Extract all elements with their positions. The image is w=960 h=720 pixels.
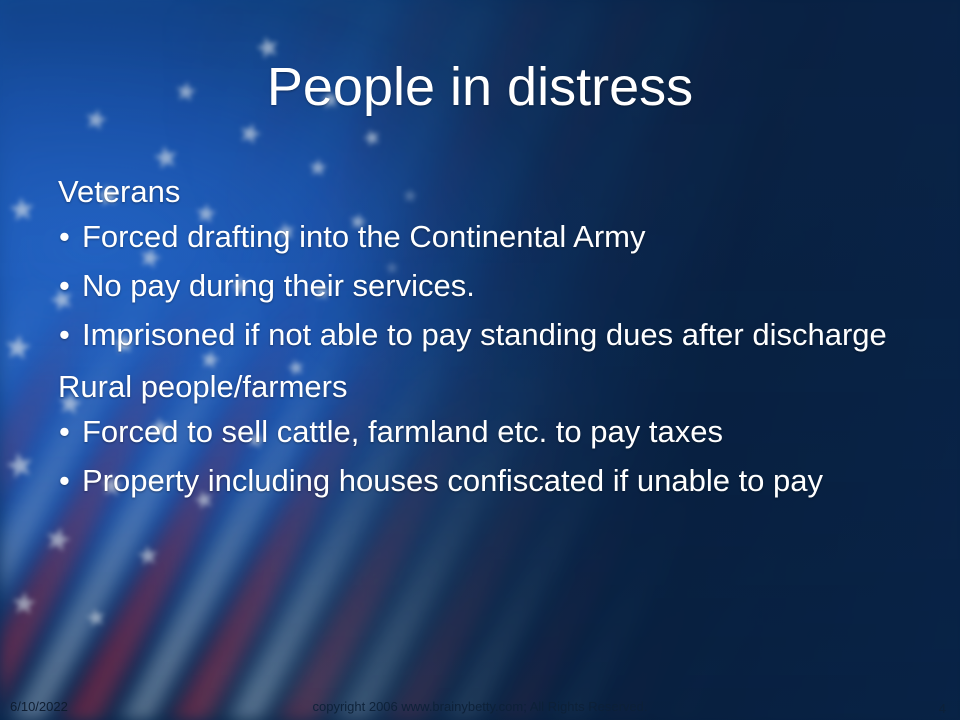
bullet-item: • No pay during their services. (48, 263, 928, 309)
bullet-text: Forced to sell cattle, farmland etc. to … (82, 409, 928, 455)
bullet-text: Property including houses confiscated if… (82, 458, 928, 504)
section-heading: Rural people/farmers (58, 367, 928, 407)
slide-number: 4 (939, 701, 946, 716)
bullet-point-icon: • (48, 409, 82, 455)
bullet-point-icon: • (48, 263, 82, 309)
bullet-item: • Forced drafting into the Continental A… (48, 214, 928, 260)
bullet-point-icon: • (48, 214, 82, 260)
content-section-rural-people-farmers: Rural people/farmers • Forced to sell ca… (48, 367, 928, 504)
presentation-slide: People in distress Veterans • Forced dra… (0, 0, 960, 720)
bullet-text: Imprisoned if not able to pay standing d… (82, 312, 928, 358)
slide-footer: 6/10/2022 copyright 2006 www.brainybetty… (0, 690, 960, 720)
content-section-veterans: Veterans • Forced drafting into the Cont… (48, 172, 928, 358)
bullet-text: Forced drafting into the Continental Arm… (82, 214, 928, 260)
section-heading: Veterans (58, 172, 928, 212)
bullet-item: • Forced to sell cattle, farmland etc. t… (48, 409, 928, 455)
slide-body: Veterans • Forced drafting into the Cont… (48, 172, 928, 507)
bullet-item: • Imprisoned if not able to pay standing… (48, 312, 928, 358)
bullet-text: No pay during their services. (82, 263, 928, 309)
bullet-item: • Property including houses confiscated … (48, 458, 928, 504)
bullet-point-icon: • (48, 458, 82, 504)
slide-title: People in distress (0, 58, 960, 116)
footer-copyright: copyright 2006 www.brainybetty.com; All … (0, 699, 960, 714)
bullet-point-icon: • (48, 312, 82, 358)
